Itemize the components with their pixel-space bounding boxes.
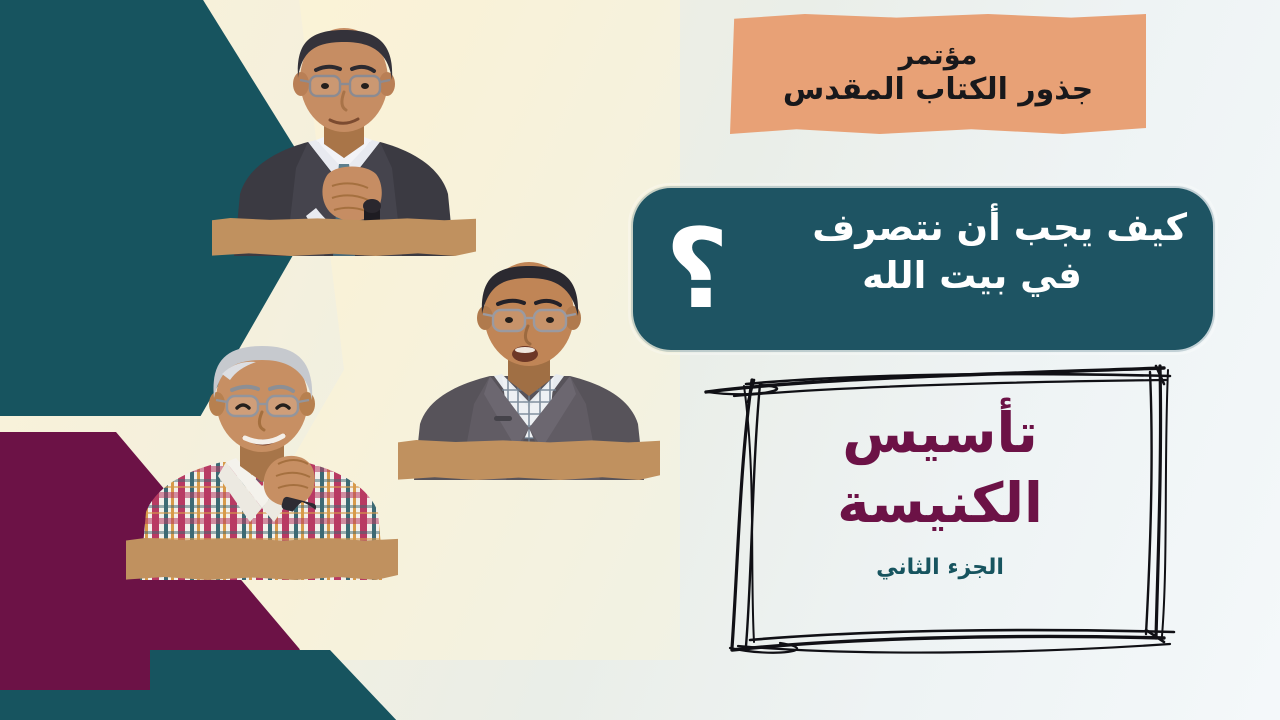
subtitle-part-number: الجزء الثاني [876, 555, 1004, 580]
main-title-line-2: الكنيسة [837, 468, 1043, 538]
question-line-2: في بيت الله [717, 252, 1187, 300]
question-callout-box: ؟ كيف يجب أن نتصرف في بيت الله [633, 188, 1213, 350]
slide-canvas: مؤتمر جذور الكتاب المقدس ؟ كيف يجب أن نت… [0, 0, 1280, 720]
banner-title-line-2: جذور الكتاب المقدس [783, 72, 1093, 107]
title-card-block: تأسيس الكنيسة الجزء الثاني [740, 398, 1140, 638]
conference-banner: مؤتمر جذور الكتاب المقدس [730, 14, 1146, 134]
question-text-block: كيف يجب أن نتصرف في بيت الله [717, 204, 1187, 300]
torn-paper-strip-bottom [126, 538, 398, 580]
question-line-1: كيف يجب أن نتصرف [717, 204, 1187, 252]
main-title-line-1: تأسيس [837, 398, 1043, 468]
speaker-photo-middle [398, 248, 660, 480]
teal-bottom-band-shape [150, 650, 400, 720]
speaker-photo-top [212, 8, 476, 256]
teal-bottom-band-left-shape [0, 690, 180, 720]
speaker-photo-bottom [126, 336, 398, 580]
torn-paper-strip-middle [398, 440, 660, 480]
banner-title-line-1: مؤتمر [899, 40, 978, 72]
speaker-top-illustration [212, 8, 476, 256]
main-title: تأسيس الكنيسة [837, 398, 1043, 539]
